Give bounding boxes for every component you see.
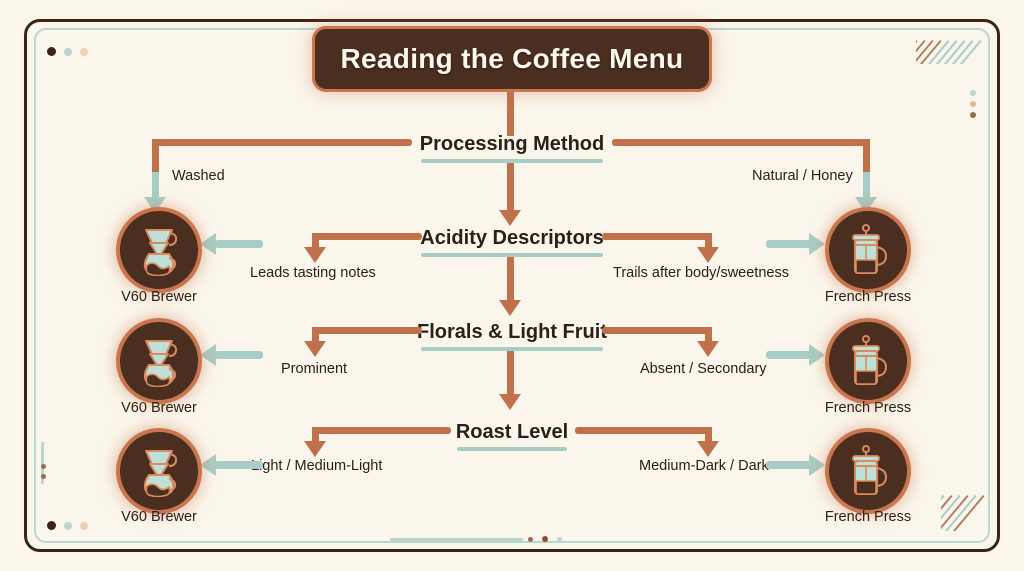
node-processing-method: Processing Method [352,133,672,163]
branch-label-r1-left: Washed [172,168,225,184]
connector-r3-left-horizontal [312,327,422,334]
teal-arrow-r3-right-head [809,344,825,366]
v60-pourover-brewer-icon [136,224,182,276]
diagram-canvas: Reading the Coffee Menu Processing Metho… [0,0,1024,571]
arrow-r4-right-head [697,441,719,457]
node-underline [457,447,567,451]
dot-teal [970,90,976,96]
connector-r1-right-vertical-teal [863,172,870,200]
arrow-r3-right-head [697,341,719,357]
dot-teal [64,522,72,530]
teal-arrow-r2-right-shaft [766,240,814,248]
badge-v60-brewer-3[interactable] [116,428,202,514]
bottom-accent-line [390,538,523,541]
arrow-r2-left-head [304,247,326,263]
badge-caption-french-press-3: French Press [788,509,948,525]
badge-french-press-3[interactable] [825,428,911,514]
dot-brown [970,112,976,118]
dot-dark [47,521,56,530]
branch-label-r3-right: Absent / Secondary [640,361,767,377]
connector-r2-left-horizontal [312,233,422,240]
trunk-r1-arrow [499,210,521,226]
badge-caption-french-press-2: French Press [788,400,948,416]
connector-r1-left-horizontal [152,139,412,146]
bottom-accent-dot-1 [528,537,533,542]
arrow-r4-left-head [304,441,326,457]
v60-pourover-brewer-icon [136,445,182,497]
top-right-hatch-decoration [916,40,994,64]
teal-arrow-r4-right-head [809,454,825,476]
dot-dark [47,47,56,56]
dot-teal [64,48,72,56]
bottom-accent-dot-3 [557,537,562,542]
badge-v60-brewer-2[interactable] [116,318,202,404]
teal-arrow-r3-left-head [200,344,216,366]
teal-arrow-r2-left-shaft [215,240,263,248]
connector-r1-left-vertical-teal [152,172,159,200]
trunk-r2-arrow [499,300,521,316]
branch-label-r4-right: Medium-Dark / Dark [639,458,769,474]
branch-label-r3-left: Prominent [281,361,347,377]
connector-r1-right-corner [863,139,870,175]
title-stem [507,92,514,136]
left-accent-dot-1 [41,464,46,469]
badge-v60-brewer-1[interactable] [116,207,202,293]
teal-arrow-r3-left-shaft [215,351,263,359]
badge-caption-french-press-1: French Press [788,289,948,305]
teal-arrow-r4-left-head [200,454,216,476]
branch-label-r2-right: Trails after body/sweetness [613,265,789,281]
badge-french-press-1[interactable] [825,207,911,293]
node-acidity-descriptors: Acidity Descriptors [352,227,672,257]
branch-label-r4-left: Light / Medium-Light [251,458,382,474]
badge-caption-v60-1: V60 Brewer [79,289,239,305]
arrow-r2-right-head [697,247,719,263]
teal-arrow-r3-right-shaft [766,351,814,359]
french-press-icon [845,445,891,497]
dot-peach [80,48,88,56]
french-press-icon [845,335,891,387]
connector-r2-right-horizontal [602,233,712,240]
french-press-icon [845,224,891,276]
branch-label-r1-right: Natural / Honey [752,168,853,184]
teal-arrow-r4-left-shaft [215,461,263,469]
connector-r1-right-horizontal [612,139,870,146]
trunk-r2-to-r3 [507,257,514,303]
dot-peach [970,101,976,107]
teal-arrow-r2-left-head [200,233,216,255]
trunk-r3-to-r4 [507,351,514,397]
page-title: Reading the Coffee Menu [341,43,684,75]
node-roast-level: Roast Level [352,421,672,451]
connector-r1-left-corner [152,139,159,175]
arrow-r3-left-head [304,341,326,357]
badge-french-press-2[interactable] [825,318,911,404]
badge-caption-v60-3: V60 Brewer [79,509,239,525]
left-accent-dot-2 [41,474,46,479]
trunk-r3-arrow [499,394,521,410]
connector-r4-right-horizontal [575,427,712,434]
teal-arrow-r2-right-head [809,233,825,255]
teal-arrow-r4-right-shaft [766,461,814,469]
badge-caption-v60-2: V60 Brewer [79,400,239,416]
node-florals-light-fruit: Florals & Light Fruit [352,321,672,351]
diagram-title-card: Reading the Coffee Menu [312,26,712,92]
bottom-accent-dot-2 [542,536,548,542]
branch-label-r2-left: Leads tasting notes [250,265,376,281]
connector-r3-right-horizontal [602,327,712,334]
trunk-r1-to-r2 [507,163,514,213]
connector-r4-left-horizontal [312,427,451,434]
v60-pourover-brewer-icon [136,335,182,387]
